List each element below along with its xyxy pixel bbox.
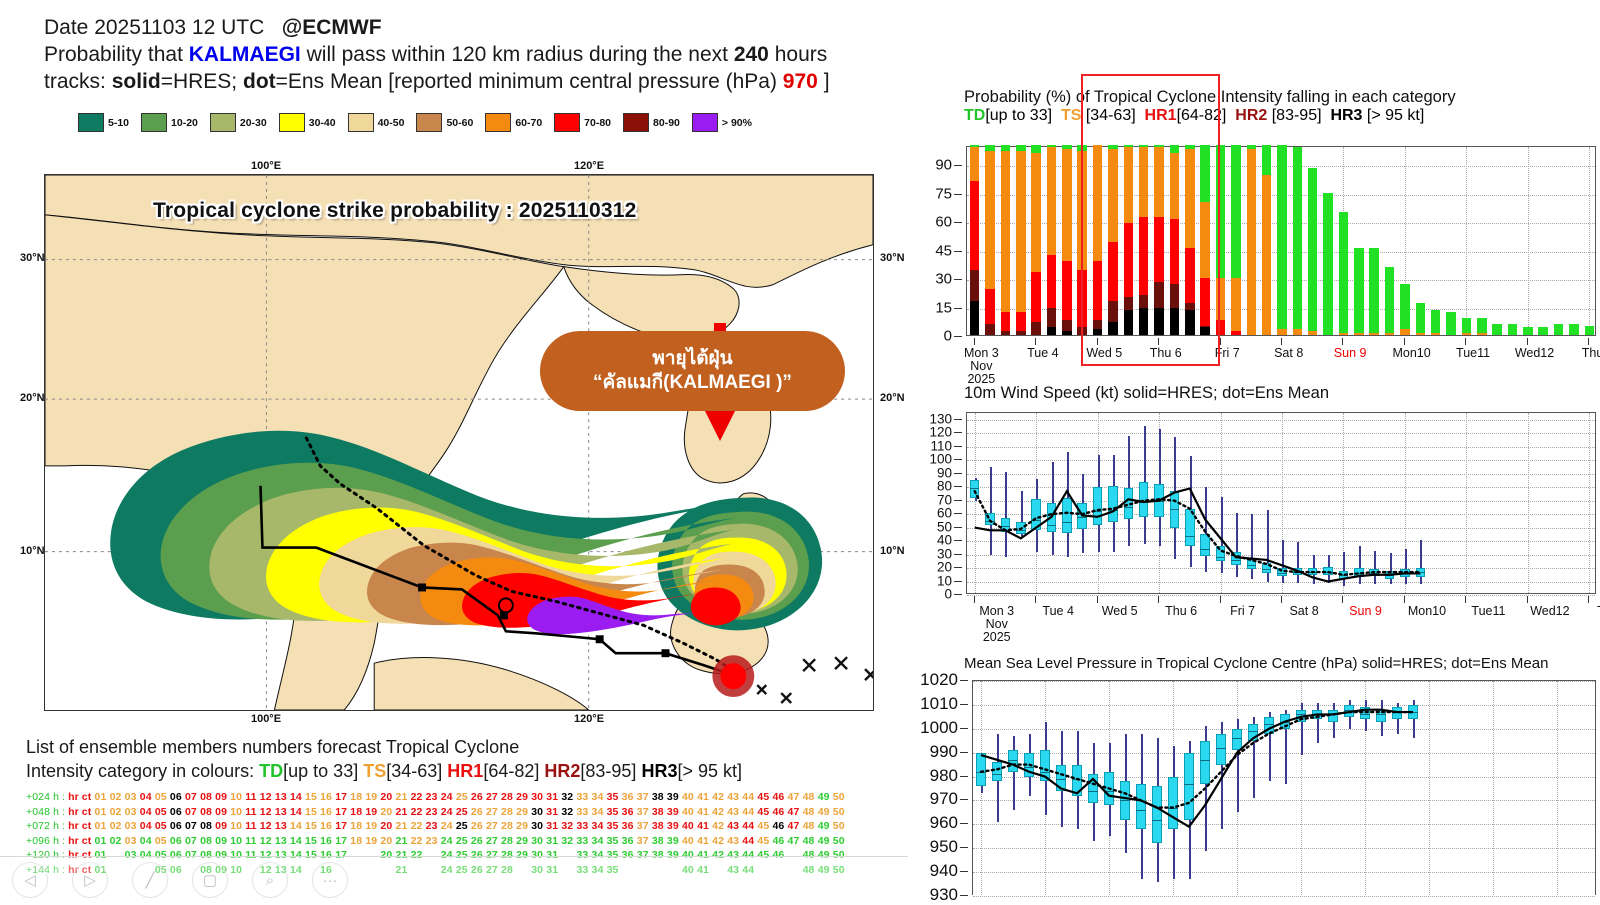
ensemble-member-number: 01 bbox=[95, 791, 107, 803]
bar-segment bbox=[1323, 193, 1333, 336]
x-tick-day: Sun 9 bbox=[1349, 605, 1382, 618]
ensemble-member-number: 38 bbox=[652, 820, 664, 832]
ensemble-member-number: 37 bbox=[637, 791, 649, 803]
bar-segment bbox=[1001, 151, 1011, 313]
stacked-bar bbox=[1508, 145, 1518, 335]
y-tick-mark bbox=[954, 165, 962, 166]
grid-line bbox=[967, 460, 1595, 461]
y-tick-mark bbox=[960, 847, 968, 848]
stacked-bar bbox=[1585, 145, 1595, 335]
ens-mean-dotted-line bbox=[975, 491, 1421, 575]
box-median bbox=[1248, 731, 1258, 732]
cat-td-label: TD bbox=[259, 761, 283, 781]
ensemble-member-number: 17 bbox=[335, 835, 347, 847]
bar-segment bbox=[985, 289, 995, 323]
stacked-bar bbox=[1416, 145, 1426, 335]
box-quartile bbox=[1232, 729, 1242, 751]
box-median bbox=[1416, 572, 1426, 573]
stacked-bar bbox=[1170, 145, 1180, 335]
legend-label: 30-40 bbox=[309, 117, 336, 129]
ensemble-member-number: 16 bbox=[320, 835, 332, 847]
box-quartile bbox=[1031, 499, 1041, 530]
x-tick-day: Mon10 bbox=[1408, 605, 1446, 618]
ensemble-member-number: 45 bbox=[757, 806, 769, 818]
intensity-title-text: Probability (%) of Tropical Cyclone Inte… bbox=[964, 88, 1594, 107]
ensemble-row: +072 h : hr ct01020304050607080910111213… bbox=[26, 819, 906, 834]
ensemble-member-number: 16 bbox=[320, 820, 332, 832]
legend-label: 40-50 bbox=[378, 117, 405, 129]
x-tick-day: Wed 5 bbox=[1086, 347, 1122, 360]
grid-line bbox=[973, 729, 1595, 730]
ensemble-member-number: 02 bbox=[110, 820, 122, 832]
box-quartile bbox=[1040, 750, 1050, 781]
map-lat-label: 30°N bbox=[880, 252, 905, 264]
stacked-bar bbox=[1538, 145, 1548, 335]
ensemble-member-number: 26 bbox=[471, 835, 483, 847]
bar-segment bbox=[1262, 175, 1272, 335]
map-lat-label: 30°N bbox=[20, 252, 45, 264]
sub-hr2: HR2 bbox=[1235, 107, 1267, 124]
x-tick-label: Wed 5 bbox=[1102, 605, 1138, 618]
box-median bbox=[976, 772, 986, 773]
stacked-bar bbox=[1477, 145, 1487, 335]
grid-line bbox=[973, 872, 1595, 873]
ensemble-row-lead: +024 h : bbox=[26, 791, 68, 803]
bar-segment bbox=[1185, 248, 1195, 303]
intensity-x-axis: Mon 3Nov2025Tue 4Wed 5Thu 6Fri 7Sat 8Sun… bbox=[966, 338, 1596, 382]
ensemble-member-number: 48 bbox=[803, 835, 815, 847]
stacked-bar bbox=[1354, 145, 1364, 335]
ensemble-member-number: 47 bbox=[788, 835, 800, 847]
grid-line bbox=[973, 800, 1595, 801]
y-tick-mark bbox=[954, 432, 962, 433]
grid-line bbox=[967, 541, 1595, 542]
x-tick-label: Sun 9 bbox=[1349, 605, 1382, 618]
ensemble-member-number: 25 bbox=[456, 820, 468, 832]
box-quartile bbox=[992, 762, 1002, 781]
stacked-bar bbox=[1339, 145, 1349, 335]
whisker bbox=[1282, 540, 1284, 583]
box-median bbox=[1047, 525, 1057, 526]
ensemble-member-number: 37 bbox=[637, 835, 649, 847]
x-tick-mark bbox=[1035, 596, 1036, 603]
ensemble-hrct-label: hr ct bbox=[68, 835, 91, 847]
bar-segment bbox=[1124, 223, 1134, 297]
bar-segment bbox=[985, 324, 995, 335]
ensemble-member-number: 17 bbox=[335, 820, 347, 832]
box-median bbox=[1152, 820, 1162, 821]
y-tick-mark bbox=[954, 336, 962, 337]
stacked-bar bbox=[1154, 145, 1164, 335]
ensemble-member-number: 28 bbox=[501, 806, 513, 818]
wind-x-axis: Mon 3Nov2025Tue 4Wed 5Thu 6Fri 7Sat 8Sun… bbox=[966, 596, 1596, 636]
ensemble-member-number: 21 bbox=[396, 820, 408, 832]
x-tick-mark bbox=[1588, 596, 1589, 603]
ensemble-hrct-label: hr ct bbox=[68, 820, 91, 832]
ensemble-member-number: 50 bbox=[833, 835, 845, 847]
grid-line bbox=[967, 420, 1595, 421]
x-tick-mark bbox=[1281, 338, 1282, 345]
ensemble-member-number: 24 bbox=[441, 835, 453, 847]
grid-line bbox=[973, 705, 1595, 706]
box-quartile bbox=[1001, 518, 1011, 531]
legend-item: 20-30 bbox=[210, 113, 267, 132]
next-arrow-button[interactable]: ▷ bbox=[72, 862, 108, 898]
header-prob-pre: Probability that bbox=[44, 43, 183, 66]
bar-segment bbox=[1001, 312, 1011, 331]
intensity-chart-title: Probability (%) of Tropical Cyclone Inte… bbox=[964, 88, 1594, 125]
box-median bbox=[1001, 526, 1011, 527]
box-quartile bbox=[1264, 717, 1274, 734]
callout-line-1: พายุไต้ฝุ่น bbox=[652, 347, 732, 371]
ensemble-member-number: 18 bbox=[350, 791, 362, 803]
y-tick-label: 90 bbox=[937, 465, 952, 480]
y-tick-mark bbox=[954, 594, 962, 595]
ensemble-member-number: 01 bbox=[95, 806, 107, 818]
ensemble-member-number: 06 bbox=[170, 791, 182, 803]
overlay-toolbar[interactable]: ◁▷╱▢⌕··· bbox=[0, 856, 908, 902]
legend-label: > 90% bbox=[722, 117, 752, 129]
ensemble-member-number: 47 bbox=[788, 820, 800, 832]
box-median bbox=[1323, 572, 1333, 573]
box-quartile bbox=[1093, 487, 1103, 525]
stacked-bar bbox=[1385, 145, 1395, 335]
stacked-bar bbox=[1462, 145, 1472, 335]
box-median bbox=[1247, 565, 1257, 566]
bar-segment bbox=[1001, 331, 1011, 335]
ensemble-member-number: 20 bbox=[380, 835, 392, 847]
box-quartile bbox=[1216, 546, 1226, 561]
ensemble-member-number: 17 bbox=[335, 806, 347, 818]
ensemble-member-number: 10 bbox=[230, 835, 242, 847]
box-median bbox=[1062, 522, 1072, 523]
more-dots-button[interactable]: ··· bbox=[312, 862, 348, 898]
whisker bbox=[1205, 487, 1207, 572]
y-tick-mark bbox=[954, 540, 962, 541]
box-median bbox=[1376, 714, 1386, 715]
box-median bbox=[1185, 536, 1195, 537]
map-lon-labels-bottom: 100°E120°E bbox=[44, 713, 874, 727]
y-tick-label: 10 bbox=[937, 573, 952, 588]
stacked-bar bbox=[1185, 145, 1195, 335]
ensemble-member-number: 45 bbox=[757, 820, 769, 832]
bar-segment bbox=[1124, 297, 1134, 310]
x-tick-mark bbox=[1527, 338, 1528, 345]
ensemble-member-number: 23 bbox=[426, 806, 438, 818]
bar-segment bbox=[1139, 308, 1149, 335]
legend-swatch bbox=[141, 113, 167, 132]
mslp-plot-area bbox=[972, 680, 1596, 895]
ensemble-member-number: 33 bbox=[576, 820, 588, 832]
ensemble-row-lead: +072 h : bbox=[26, 820, 68, 832]
box-median bbox=[1200, 760, 1210, 761]
solid-eq: =HRES; bbox=[161, 70, 237, 93]
bar-segment bbox=[1062, 145, 1072, 149]
ensemble-member-number: 44 bbox=[742, 835, 754, 847]
bar-segment bbox=[1339, 212, 1349, 334]
bar-segment bbox=[1339, 333, 1349, 335]
bar-segment bbox=[1154, 282, 1164, 309]
bar-segment bbox=[1185, 149, 1195, 248]
bar-segment bbox=[1523, 327, 1533, 335]
sub-hr3: HR3 bbox=[1330, 107, 1362, 124]
grid-line bbox=[1466, 413, 1467, 593]
x-tick-mark bbox=[1404, 596, 1405, 603]
bar-segment bbox=[1139, 145, 1149, 147]
box-quartile bbox=[1108, 486, 1118, 522]
ensemble-member-number: 33 bbox=[576, 835, 588, 847]
bar-segment bbox=[970, 301, 980, 335]
bar-segment bbox=[1016, 151, 1026, 313]
box-median bbox=[1354, 573, 1364, 574]
bar-segment bbox=[1170, 219, 1180, 284]
x-tick-mark bbox=[1158, 338, 1159, 345]
strike-probability-map[interactable]: Tropical cyclone strike probability : 20… bbox=[44, 174, 874, 711]
bar-segment bbox=[970, 145, 980, 147]
bar-segment bbox=[1400, 284, 1410, 330]
whisker bbox=[990, 467, 992, 555]
box-quartile bbox=[1056, 765, 1066, 791]
bar-segment bbox=[1139, 147, 1149, 217]
ensemble-member-number: 41 bbox=[697, 820, 709, 832]
ensemble-member-number: 08 bbox=[200, 791, 212, 803]
ensemble-member-number: 42 bbox=[712, 820, 724, 832]
legend-label: 70-80 bbox=[584, 117, 611, 129]
y-tick-mark bbox=[954, 486, 962, 487]
box-median bbox=[1264, 724, 1274, 725]
box-median bbox=[1328, 714, 1338, 715]
ensemble-member-number: 29 bbox=[516, 806, 528, 818]
ensemble-row: +096 h : hr ct01020304050607080910111213… bbox=[26, 834, 906, 849]
ensemble-member-number: 39 bbox=[667, 820, 679, 832]
map-lon-label: 120°E bbox=[574, 713, 604, 725]
legend-swatch bbox=[210, 113, 236, 132]
x-tick-label: Mon10 bbox=[1392, 347, 1430, 360]
legend-item: 70-80 bbox=[554, 113, 611, 132]
bar-segment bbox=[1077, 151, 1087, 271]
x-tick-label: Mon 3Nov2025 bbox=[964, 347, 999, 386]
x-tick-label: Thu1 bbox=[1582, 347, 1600, 360]
bar-segment bbox=[1170, 308, 1180, 335]
y-tick-label: 100 bbox=[929, 452, 952, 467]
ensemble-member-number: 19 bbox=[365, 791, 377, 803]
box-quartile bbox=[985, 513, 995, 525]
ensemble-heading-2: Intensity category in colours: TD[up to … bbox=[26, 759, 906, 783]
bar-segment bbox=[1416, 333, 1426, 335]
probability-legend: 5-1010-2020-3030-4040-5050-6060-7070-808… bbox=[78, 113, 764, 132]
ensemble-member-number: 12 bbox=[260, 835, 272, 847]
bar-segment bbox=[1047, 145, 1057, 147]
x-tick-label: Fri 7 bbox=[1215, 347, 1240, 360]
mslp-chart-title: Mean Sea Level Pressure in Tropical Cycl… bbox=[964, 655, 1600, 672]
dot-eq: =Ens Mean [reported minimum central pres… bbox=[276, 70, 777, 93]
ensemble-member-number: 25 bbox=[456, 791, 468, 803]
storm-name: KALMAEGI bbox=[189, 43, 301, 66]
wind-y-axis: 0102030405060708090100110120130 bbox=[908, 412, 962, 594]
y-tick-label: 60 bbox=[937, 506, 952, 521]
bar-segment bbox=[1431, 333, 1441, 335]
sub-ts-rng: [34-63] bbox=[1086, 107, 1136, 124]
box-quartile bbox=[1047, 503, 1057, 531]
y-tick-mark bbox=[960, 823, 968, 824]
y-tick-label: 120 bbox=[929, 425, 952, 440]
ensemble-member-number: 34 bbox=[592, 791, 604, 803]
grid-line bbox=[1557, 681, 1558, 895]
bar-segment bbox=[1369, 248, 1379, 334]
dot-label: dot bbox=[243, 70, 276, 93]
bar-segment bbox=[1154, 308, 1164, 335]
ensemble-member-number: 40 bbox=[682, 820, 694, 832]
ensemble-member-number: 48 bbox=[803, 791, 815, 803]
cat-hr3-range: [> 95 kt] bbox=[677, 761, 742, 781]
ensemble-member-number: 11 bbox=[245, 820, 256, 832]
box-quartile bbox=[1392, 707, 1402, 719]
box-quartile bbox=[1248, 724, 1258, 741]
ensemble-member-number: 25 bbox=[456, 806, 468, 818]
box-median bbox=[1168, 808, 1178, 809]
legend-swatch bbox=[692, 113, 718, 132]
whisker bbox=[1013, 736, 1015, 810]
box-quartile bbox=[1088, 774, 1098, 803]
ensemble-member-number: 44 bbox=[742, 791, 754, 803]
x-tick-day: Fri 7 bbox=[1230, 605, 1255, 618]
ensemble-hrct-label: hr ct bbox=[68, 791, 91, 803]
bar-segment bbox=[1354, 333, 1364, 335]
ensemble-member-number: 22 bbox=[411, 791, 423, 803]
box-quartile bbox=[1344, 705, 1354, 717]
grid-line bbox=[975, 413, 976, 593]
pen-button[interactable]: ╱ bbox=[132, 862, 168, 898]
ensemble-member-number: 16 bbox=[320, 791, 332, 803]
header-line-date: Date 20251103 12 UTC @ECMWF bbox=[44, 14, 904, 41]
ensemble-member-number: 11 bbox=[245, 835, 256, 847]
whisker bbox=[1297, 542, 1299, 582]
stacked-bar bbox=[970, 145, 980, 335]
stacked-bar bbox=[1231, 145, 1241, 335]
stacked-bar bbox=[1569, 145, 1579, 335]
bar-segment bbox=[1538, 327, 1548, 335]
box-quartile bbox=[1152, 786, 1162, 843]
ensemble-member-number: 28 bbox=[501, 835, 513, 847]
box-median bbox=[1200, 549, 1210, 550]
ensemble-member-number: 09 bbox=[215, 806, 227, 818]
y-tick-mark bbox=[954, 567, 962, 568]
box-median bbox=[1040, 772, 1050, 773]
ensemble-member-number: 20 bbox=[380, 820, 392, 832]
bar-segment bbox=[1462, 318, 1472, 333]
x-tick-label: Mon 3Nov2025 bbox=[979, 605, 1014, 644]
ensemble-member-number: 21 bbox=[396, 835, 408, 847]
box-median bbox=[1277, 573, 1287, 574]
y-tick-mark bbox=[954, 446, 962, 447]
typhoon-callout: พายุไต้ฝุ่น “คัลแมกี(KALMAEGI )” bbox=[540, 331, 845, 411]
ensemble-member-number: 09 bbox=[215, 835, 227, 847]
ensemble-member-number: 13 bbox=[275, 791, 287, 803]
bar-segment bbox=[1185, 310, 1195, 335]
wind-title-string: 10m Wind Speed (kt) solid=HRES; dot=Ens … bbox=[964, 384, 1329, 402]
box-median bbox=[1016, 530, 1026, 531]
bar-segment bbox=[1016, 312, 1026, 331]
x-tick-label: Wed 5 bbox=[1086, 347, 1122, 360]
x-tick-mark bbox=[1220, 338, 1221, 345]
ensemble-member-number: 44 bbox=[742, 820, 754, 832]
y-tick-label: 130 bbox=[929, 411, 952, 426]
x-tick-mark bbox=[1097, 596, 1098, 603]
bar-segment bbox=[985, 145, 995, 151]
x-tick-day: Thu 6 bbox=[1165, 605, 1197, 618]
whisker bbox=[1374, 551, 1376, 585]
x-tick-mark bbox=[1342, 596, 1343, 603]
bar-segment bbox=[1093, 329, 1103, 335]
grid-line bbox=[973, 753, 1595, 754]
ensemble-member-number: 29 bbox=[516, 835, 528, 847]
stacked-bar bbox=[1031, 145, 1041, 335]
bar-segment bbox=[1277, 329, 1287, 335]
x-tick-label: Thu 6 bbox=[1150, 347, 1182, 360]
ensemble-member-number: 43 bbox=[727, 820, 739, 832]
stacked-bar bbox=[1139, 145, 1149, 335]
y-tick-label: 0 bbox=[944, 328, 952, 345]
y-tick-label: 930 bbox=[930, 885, 958, 905]
box-median bbox=[1296, 714, 1306, 715]
bar-segment bbox=[1308, 331, 1318, 335]
box-quartile bbox=[1168, 777, 1178, 830]
box-quartile bbox=[1136, 784, 1146, 829]
ensemble-member-number: 03 bbox=[125, 835, 137, 847]
ensemble-member-number: 50 bbox=[833, 820, 845, 832]
ensemble-member-number: 34 bbox=[592, 820, 604, 832]
left-panel: Date 20251103 12 UTC @ECMWF Probability … bbox=[0, 0, 908, 902]
box-median bbox=[1154, 501, 1164, 502]
sub-hr1: HR1 bbox=[1145, 107, 1177, 124]
header-line-probability: Probability that KALMAEGI will pass with… bbox=[44, 41, 904, 68]
y-tick-label: 110 bbox=[930, 438, 952, 453]
legend-item: 50-60 bbox=[416, 113, 473, 132]
cat-hr2-range: [83-95] bbox=[580, 761, 636, 781]
stacked-bar bbox=[1400, 145, 1410, 335]
y-tick-mark bbox=[960, 895, 968, 896]
bar-segment bbox=[1477, 318, 1487, 333]
prev-arrow-button[interactable]: ◁ bbox=[12, 862, 48, 898]
solid-label: solid bbox=[112, 70, 161, 93]
y-tick-mark bbox=[954, 527, 962, 528]
grid-line bbox=[973, 777, 1595, 778]
legend-item: 60-70 bbox=[485, 113, 542, 132]
y-tick-label: 1000 bbox=[920, 718, 958, 738]
ensemble-member-number: 30 bbox=[531, 791, 543, 803]
box-median bbox=[1139, 502, 1149, 503]
cat-ts-range: [34-63] bbox=[386, 761, 442, 781]
box-median bbox=[1120, 800, 1130, 801]
search-button[interactable]: ⌕ bbox=[252, 862, 288, 898]
crop-button[interactable]: ▢ bbox=[192, 862, 228, 898]
ensemble-member-number: 19 bbox=[365, 835, 377, 847]
x-tick-day: Sat 8 bbox=[1274, 347, 1303, 360]
box-quartile bbox=[1216, 734, 1226, 765]
ensemble-member-number: 14 bbox=[290, 806, 302, 818]
ensemble-member-number: 26 bbox=[471, 806, 483, 818]
ensemble-member-number: 09 bbox=[215, 820, 227, 832]
box-quartile bbox=[1328, 710, 1338, 722]
min-pressure-value: 970 bbox=[783, 70, 818, 93]
bar-segment bbox=[1108, 149, 1118, 242]
bar-segment bbox=[1124, 145, 1134, 147]
stacked-bar bbox=[1124, 145, 1134, 335]
ensemble-member-number: 27 bbox=[486, 820, 498, 832]
bar-segment bbox=[1354, 248, 1364, 334]
mslp-y-axis: 930940950960970980990100010101020 bbox=[908, 680, 968, 895]
ensemble-member-number: 48 bbox=[803, 820, 815, 832]
